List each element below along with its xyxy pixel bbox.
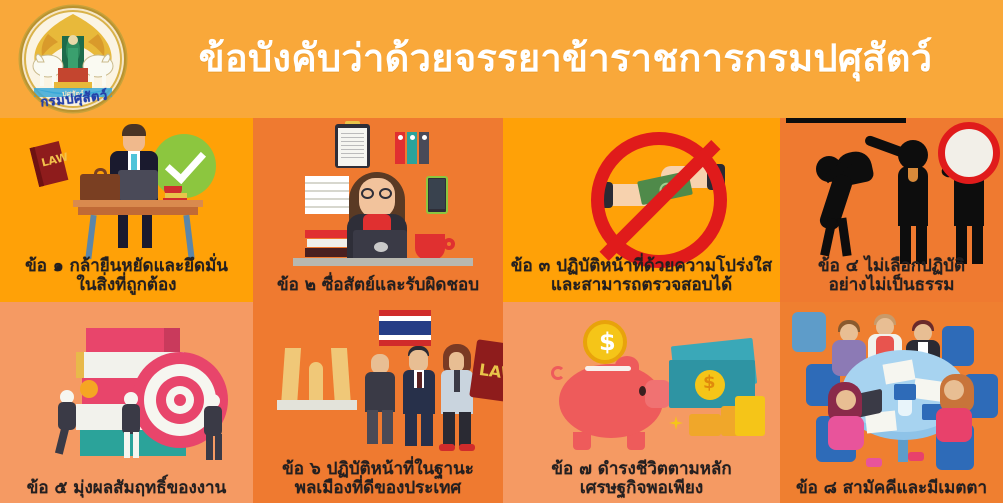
citizen-b-leg-right [421, 412, 433, 446]
sparkle-icon [669, 416, 683, 430]
flag-stripe-red-bottom [379, 340, 431, 346]
piggy-leg-left [573, 432, 591, 450]
principle-card-3[interactable]: ข้อ ๓ ปฏิบัติหน้าที่ด้วยความโปร่งใส และส… [503, 118, 780, 302]
colleague-5-body [936, 408, 972, 442]
principle-card-5[interactable]: ข้อ ๕ มุ่งผลสัมฤทธิ์ของงาน [0, 302, 253, 503]
person-leg-center-left [124, 432, 130, 458]
principle-card-2[interactable]: ข้อ ๒ ซื่อสัตย์และรับผิดชอบ [253, 118, 503, 302]
citizen-b-leg-left [405, 412, 417, 446]
laptop-logo [374, 242, 388, 252]
principles-grid: LAW ข้อ ๑ กล้ายืนหยัดและย [0, 118, 1003, 503]
coffee-mug-icon [415, 234, 445, 260]
colleague-4-shoe [866, 458, 882, 467]
banknote-dollar-label: $ [703, 372, 716, 393]
dartboard-bullseye [174, 394, 186, 406]
clipboard-paper [338, 128, 367, 166]
person-leg-right-right [215, 434, 222, 460]
principle-card-6[interactable]: LAW ข้อ ๖ ปฏิบัติหน้าที่ในฐานะ พลเมืองที… [253, 302, 503, 503]
bowing-person-leg-right [837, 218, 851, 257]
citizen-c-face [449, 352, 464, 372]
coin-stack-tall [735, 396, 765, 436]
person-body-center [122, 404, 140, 434]
piggy-eye [639, 386, 646, 396]
book-brown [305, 248, 349, 257]
citizen-c-shoe-right [459, 444, 475, 451]
coin-dollar-label: $ [599, 328, 616, 356]
principle-caption-6: ข้อ ๖ ปฏิบัติหน้าที่ในฐานะ พลเมืองที่ดีข… [255, 460, 501, 499]
illustration-books-and-target [14, 310, 253, 503]
colleague-5-shoe [908, 452, 924, 461]
desk-surface [293, 258, 473, 266]
book-white [307, 239, 347, 247]
citizen-a-leg-right [382, 410, 393, 444]
flag-stripe-blue [379, 321, 431, 335]
page-header: ปศุสัตว์ กรมปศุสัตว์ ข้อบังคับว่าด้วยจรร… [0, 0, 1003, 118]
person-hair [122, 124, 146, 136]
principle-card-4[interactable]: ข้อ ๔ ไม่เลือกปฏิบัติ อย่างไม่เป็นธรรม [780, 118, 1003, 302]
law-book-label: LAW [478, 360, 503, 384]
book-red [305, 230, 347, 238]
law-book-label: LAW [40, 150, 70, 169]
principle-caption-3: ข้อ ๓ ปฏิบัติหน้าที่ด้วยความโปร่งใส และส… [505, 257, 778, 296]
briefcase-icon [80, 174, 120, 202]
citizen-b-tie [417, 372, 422, 388]
person-leg-right-left [206, 434, 213, 460]
water-glass-icon [898, 400, 912, 416]
desk-leg-left [85, 215, 96, 259]
monument-pillar-right [331, 348, 351, 406]
principle-card-1[interactable]: LAW ข้อ ๑ กล้ายืนหยัดและย [0, 118, 253, 302]
coin-stack-short [689, 414, 721, 436]
principle-caption-4: ข้อ ๔ ไม่เลือกปฏิบัติ อย่างไม่เป็นธรรม [782, 257, 1001, 296]
citizen-a-leg-left [367, 410, 378, 444]
citizen-b-head [409, 350, 428, 372]
piggy-tail [551, 366, 565, 380]
ground-line [786, 118, 906, 123]
person-body-right [204, 406, 222, 436]
chair-upper-left [792, 312, 826, 352]
stop-hand-prohibition-icon [938, 122, 1000, 184]
book-stack-pages [164, 328, 180, 352]
colleague-5-head [944, 380, 964, 400]
principle-card-8[interactable]: ข้อ ๘ สามัคคีและมีเมตตา [780, 302, 1003, 503]
monument-pillar-left [281, 348, 301, 406]
principle-caption-1: ข้อ ๑ กล้ายืนหยัดและยึดมั่น ในสิ่งที่ถูก… [2, 257, 251, 296]
paper-stack [305, 176, 349, 214]
tablet-device-1 [894, 384, 916, 400]
principle-caption-5: ข้อ ๕ มุ่งผลสัมฤทธิ์ของงาน [2, 479, 251, 499]
principle-caption-8: ข้อ ๘ สามัคคีและมีเมตตา [782, 479, 1001, 499]
green-check-icon [152, 134, 216, 198]
infographic-page: ปศุสัตว์ กรมปศุสัตว์ ข้อบังคับว่าด้วยจรร… [0, 0, 1003, 503]
citizen-a-head [371, 354, 389, 374]
official-tie-1 [908, 168, 918, 182]
chair-top-right [942, 326, 974, 366]
law-book-icon: LAW [30, 141, 69, 187]
principle-caption-2: ข้อ ๒ ซื่อสัตย์และรับผิดชอบ [255, 276, 501, 296]
law-book-icon: LAW [469, 339, 503, 403]
book-stack-edge [76, 352, 84, 378]
citizen-c-scarf [454, 370, 460, 392]
citizen-c-leg-left [443, 412, 455, 446]
glasses-left [361, 188, 374, 199]
citizen-c-shoe-left [439, 444, 455, 451]
emblem-container: ปศุสัตว์ กรมปศุสัตว์ [0, 0, 150, 118]
citizen-c-leg-right [459, 412, 471, 446]
binder-dot-2 [410, 135, 415, 140]
person-leg-left [55, 427, 69, 454]
monument-base [277, 400, 357, 410]
page-title: ข้อบังคับว่าด้วยจรรยาข้าราชการกรมปศุสัตว… [150, 38, 1003, 80]
desk-top [73, 200, 203, 207]
citizen-a-body [365, 372, 395, 412]
person-leg-center-right [133, 432, 139, 458]
colleague-4-head [836, 390, 856, 410]
piggy-snout [645, 380, 671, 408]
smartphone-screen [429, 179, 445, 209]
banknote-coin-emblem: $ [695, 370, 725, 400]
flag-stripe-red-top [379, 310, 431, 316]
glasses-right [379, 188, 392, 199]
laptop-icon [118, 170, 158, 200]
illustration-team-meeting [792, 312, 1003, 503]
desk-leg-right [183, 215, 194, 259]
idea-bulb-icon [80, 380, 98, 398]
principle-caption-7: ข้อ ๗ ดำรงชีวิตตามหลัก เศรษฐกิจพอเพียง [505, 460, 778, 499]
principle-card-7[interactable]: $ $ ข้อ ๗ ดำรงชีวิตตามหลัก เศรษฐกิจพ [503, 302, 780, 503]
piggy-coin-slot [585, 366, 631, 371]
binder-dot-1 [398, 135, 403, 140]
person-body-left [58, 402, 76, 430]
colleague-4-body [828, 416, 864, 450]
binder-dot-3 [422, 135, 427, 140]
